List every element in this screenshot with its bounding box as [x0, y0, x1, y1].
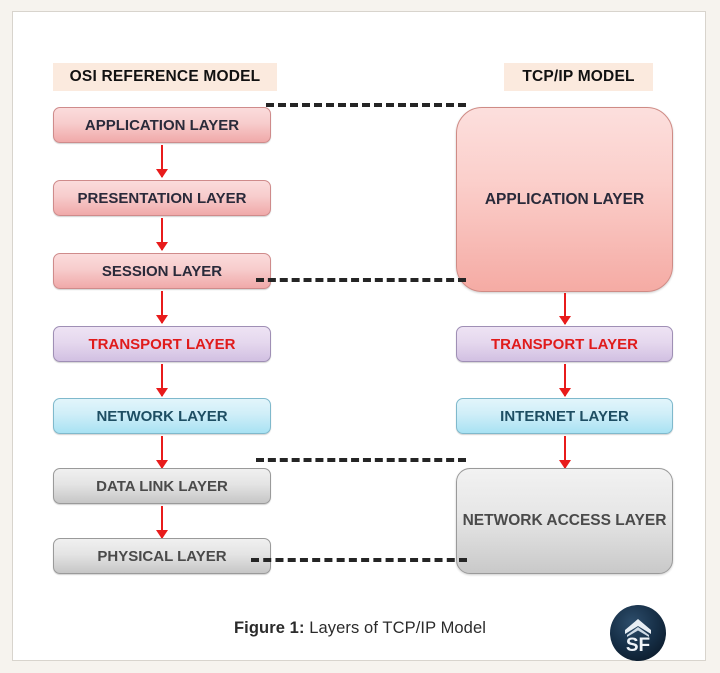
osi-layer-transport[interactable]: TRANSPORT LAYER — [53, 326, 271, 362]
osi-layer-application[interactable]: APPLICATION LAYER — [53, 107, 271, 143]
tcpip-model-header: TCP/IP MODEL — [504, 63, 653, 91]
osi-arrow-session-to-transport — [155, 291, 169, 323]
figure-caption-text: Layers of TCP/IP Model — [309, 619, 486, 637]
tcpip-arrow-application-to-transport — [558, 293, 572, 324]
osi-arrow-presentation-to-session — [155, 218, 169, 250]
osi-layer-data-link[interactable]: DATA LINK LAYER — [53, 468, 271, 504]
tcpip-arrow-transport-to-internet — [558, 364, 572, 396]
divider-application-mapping — [266, 103, 466, 107]
svg-text:SF: SF — [626, 635, 650, 656]
osi-model-header: OSI REFERENCE MODEL — [53, 63, 277, 91]
tcpip-layer-network-access[interactable]: NETWORK ACCESS LAYER — [456, 468, 673, 574]
divider-internet-mapping — [256, 458, 466, 462]
osi-arrow-datalink-to-physical — [155, 506, 169, 538]
tcpip-layer-application[interactable]: APPLICATION LAYER — [456, 107, 673, 292]
osi-arrow-transport-to-network — [155, 364, 169, 396]
tcpip-layer-internet[interactable]: INTERNET LAYER — [456, 398, 673, 434]
divider-transport-mapping — [256, 278, 466, 282]
divider-network-access-mapping — [251, 558, 467, 562]
osi-layer-presentation[interactable]: PRESENTATION LAYER — [53, 180, 271, 216]
figure-caption: Figure 1: Layers of TCP/IP Model — [13, 619, 707, 638]
osi-layer-physical[interactable]: PHYSICAL LAYER — [53, 538, 271, 574]
osi-layer-network[interactable]: NETWORK LAYER — [53, 398, 271, 434]
osi-arrow-application-to-presentation — [155, 145, 169, 177]
osi-arrow-network-to-datalink — [155, 436, 169, 468]
osi-layer-session[interactable]: SESSION LAYER — [53, 253, 271, 289]
figure-caption-label: Figure 1: — [234, 619, 305, 637]
sf-logo: SF — [609, 604, 667, 662]
tcpip-arrow-internet-to-network-access — [558, 436, 572, 468]
tcpip-layer-transport[interactable]: TRANSPORT LAYER — [456, 326, 673, 362]
diagram-canvas: OSI REFERENCE MODEL TCP/IP MODEL APPLICA… — [12, 11, 706, 661]
